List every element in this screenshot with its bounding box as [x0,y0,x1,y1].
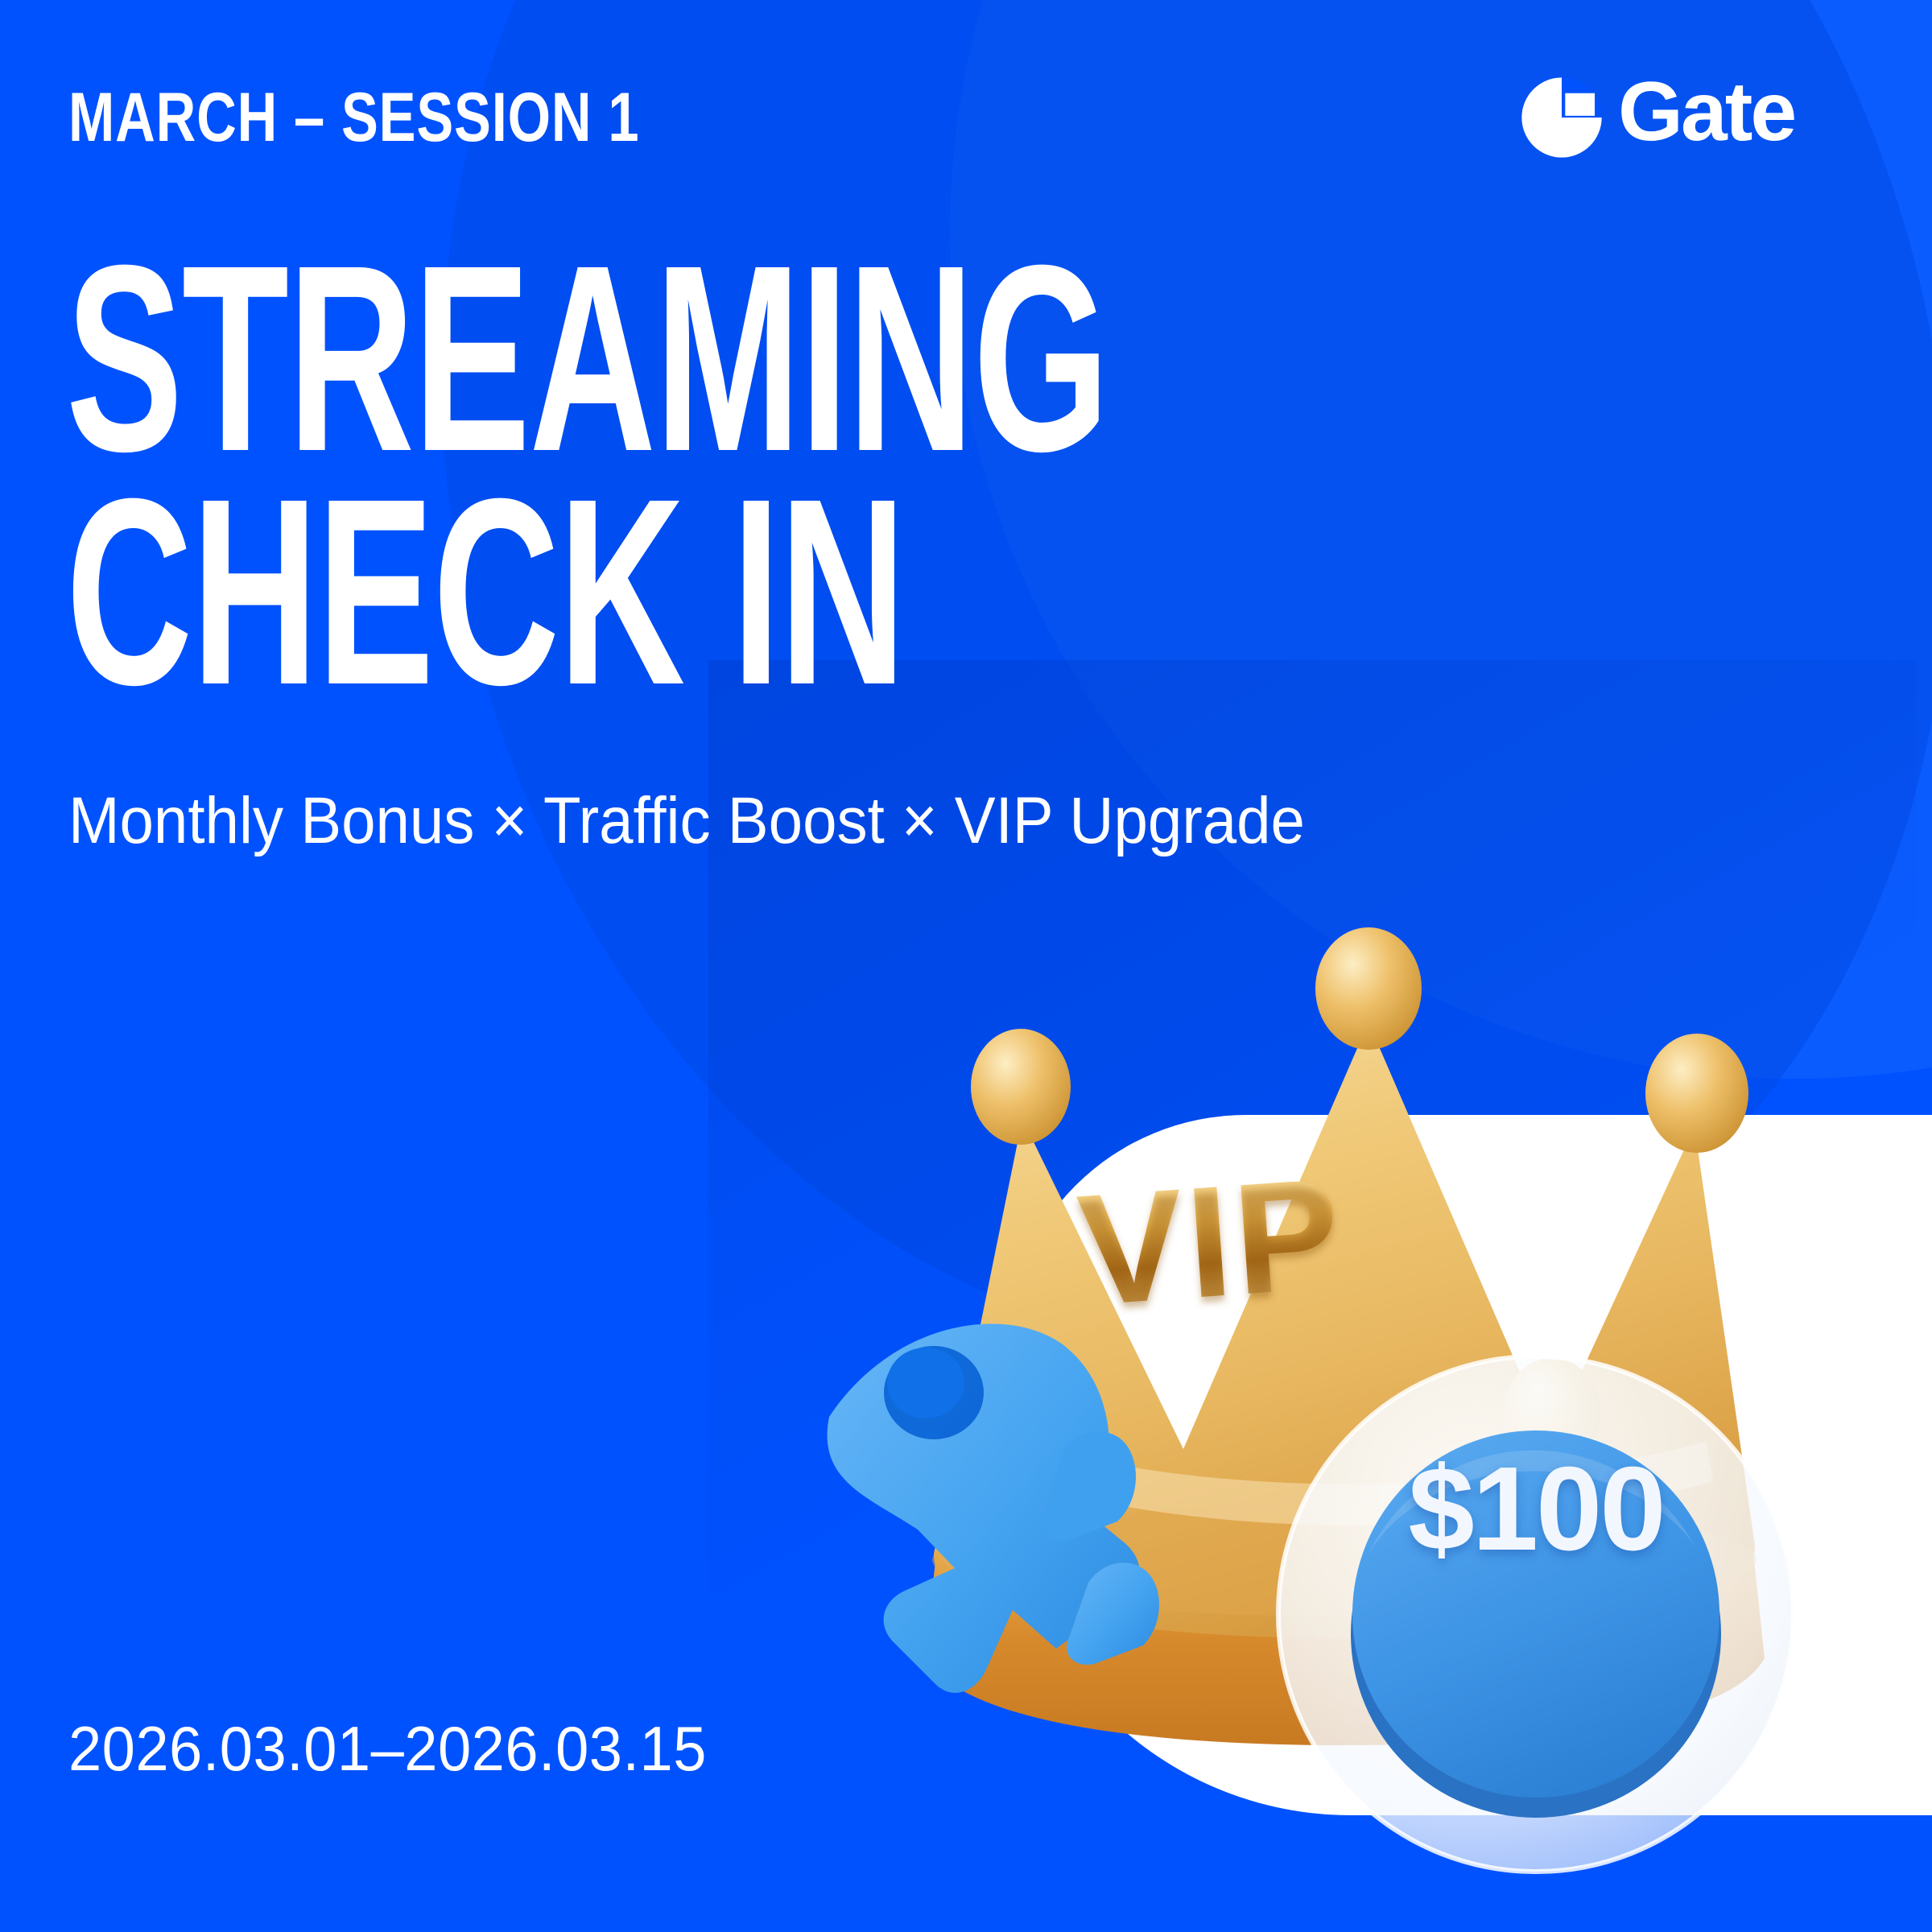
gate-wordmark-icon: Gate [1618,74,1860,161]
banner-header: MARCH – SESSION 1 Gate [68,74,1860,161]
session-label: MARCH – SESSION 1 [68,83,639,152]
headline-line-2: CHECK IN [66,475,1108,708]
svg-text:Gate: Gate [1618,74,1794,159]
artwork-stage [805,885,1932,1868]
headline: STREAMING CHECK IN [66,242,1645,709]
rocket-fin-front-icon [805,885,1932,1868]
promo-banner: MARCH – SESSION 1 Gate STREAMING CHECK I… [0,0,1932,1932]
date-range: 2026.03.01–2026.03.15 [68,1712,707,1785]
gate-circle-mark-icon [1518,74,1605,161]
gate-logo: Gate [1518,74,1860,161]
headline-line-1: STREAMING [66,242,1108,475]
subtitle: Monthly Bonus × Traffic Boost × VIP Upgr… [68,785,1305,857]
